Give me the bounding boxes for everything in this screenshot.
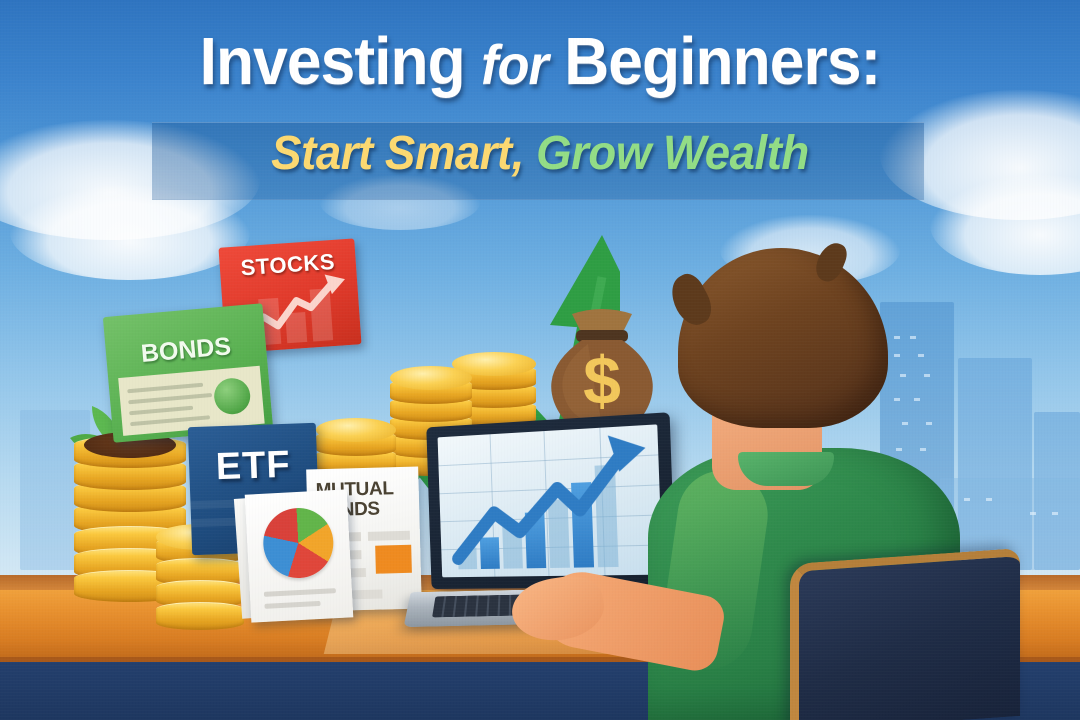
svg-text:$: $ — [583, 343, 621, 419]
mutual-funds-accent-block — [375, 545, 412, 574]
collar — [738, 452, 834, 486]
pie-chart-card[interactable] — [245, 489, 354, 622]
laptop-trend-arrow-icon — [438, 424, 663, 576]
poster-canvas: $ STOCKS — [0, 0, 1080, 720]
title-part-2: Beginners: — [564, 24, 880, 99]
laptop-screen — [438, 424, 663, 577]
page-title: Investing for Beginners: — [38, 0, 1042, 95]
page-subtitle: Start Smart, Grow Wealth — [27, 126, 1053, 181]
bonds-label: BONDS — [105, 329, 267, 372]
bonds-card[interactable]: BONDS — [103, 303, 273, 442]
etf-label: ETF — [189, 443, 318, 490]
bonds-seal-icon — [213, 377, 252, 416]
subtitle-green: Grow Wealth — [536, 127, 809, 180]
office-chair-icon[interactable] — [790, 548, 1020, 720]
title-italic-word: for — [481, 33, 548, 96]
subtitle-yellow: Start Smart, — [271, 127, 524, 180]
pie-chart-icon — [262, 506, 336, 580]
title-block: Investing for Beginners: — [0, 0, 1080, 95]
hair — [678, 248, 888, 428]
title-part-1: Investing — [200, 24, 465, 99]
